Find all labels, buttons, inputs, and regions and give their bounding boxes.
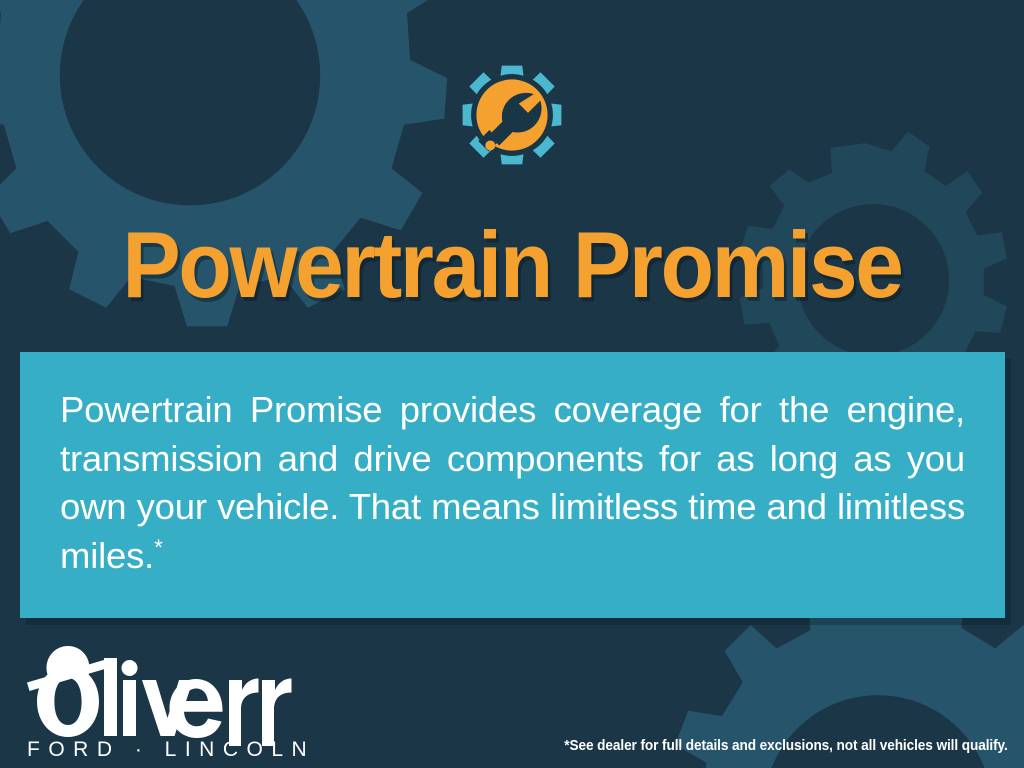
gear-wrench-icon	[423, 26, 601, 204]
asterisk-marker: *	[154, 534, 163, 559]
logo-subtitle: FORD · LINCOLN	[27, 738, 315, 760]
description-text: Powertrain Promise provides coverage for…	[60, 386, 965, 580]
logo-o-with-hat	[27, 646, 107, 737]
powertrain-promise-poster: Powertrain Promise Powertrain Promise pr…	[0, 0, 1024, 768]
description-line-1: Powertrain Promise provides coverage for…	[60, 389, 829, 430]
logo-wordmark	[104, 658, 292, 746]
disclaimer-text: *See dealer for full details and exclusi…	[565, 738, 1008, 754]
logo-subtitle-group: FORD · LINCOLN	[27, 738, 315, 760]
page-title: Powertrain Promise	[36, 218, 988, 312]
description-panel: Powertrain Promise provides coverage for…	[20, 352, 1005, 618]
oliver-ford-lincoln-logo: FORD · LINCOLN	[24, 636, 324, 760]
